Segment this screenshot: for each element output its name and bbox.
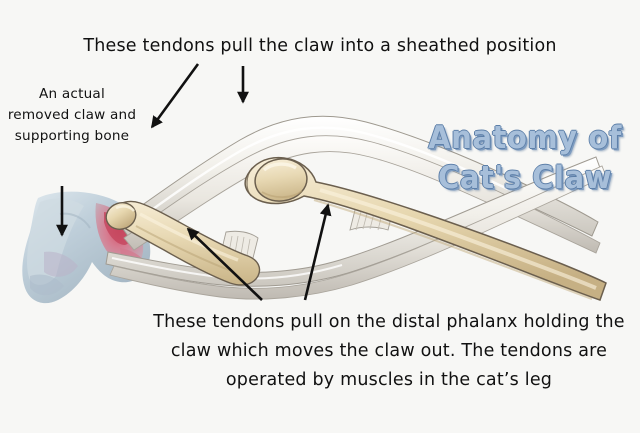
caption-bottom-line-1: These tendons pull on the distal phalanx… <box>153 312 589 332</box>
figure-canvas: These tendons pull the claw into a sheat… <box>0 0 640 433</box>
title-line-1: Anatomy of <box>424 118 625 158</box>
title-line-2: Cat's Claw <box>424 158 625 198</box>
figure-title: Anatomy of Cat's Claw <box>424 118 625 198</box>
caption-left-specimen: An actual removed claw and supporting bo… <box>6 84 138 147</box>
caption-bottom: These tendons pull on the distal phalanx… <box>150 308 628 395</box>
caption-top: These tendons pull the claw into a sheat… <box>0 36 640 56</box>
arrow-top-diagonal <box>152 64 198 127</box>
